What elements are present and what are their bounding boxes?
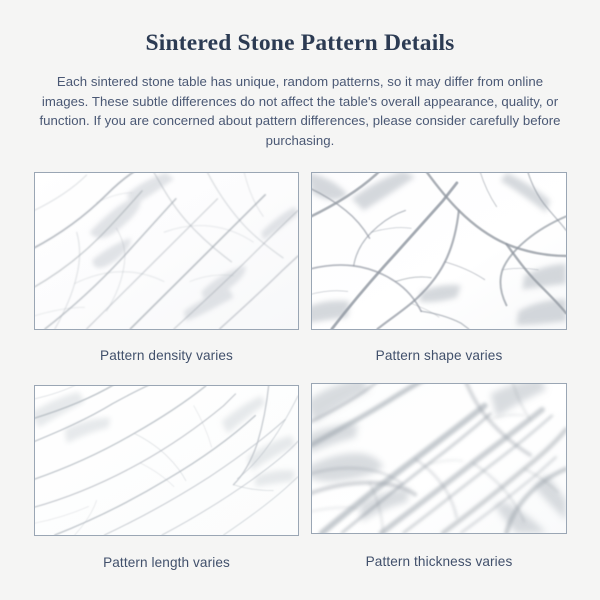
gallery-caption-density: Pattern density varies: [34, 348, 299, 363]
marble-swatch-thickness: [311, 383, 567, 534]
marble-swatch-density: [34, 172, 299, 330]
gallery-caption-length: Pattern length varies: [34, 555, 299, 570]
page-title: Sintered Stone Pattern Details: [0, 30, 600, 57]
pattern-details-page: Sintered Stone Pattern Details Each sint…: [0, 0, 600, 600]
marble-swatch-shape: [311, 172, 567, 330]
gallery-item-thickness: Pattern thickness varies: [311, 383, 567, 569]
gallery-item-shape: Pattern shape varies: [311, 172, 567, 363]
gallery-caption-shape: Pattern shape varies: [311, 348, 567, 363]
gallery-caption-thickness: Pattern thickness varies: [311, 554, 567, 569]
marble-swatch-length: [34, 385, 299, 536]
gallery-item-density: Pattern density varies: [34, 172, 299, 363]
gallery-item-length: Pattern length varies: [34, 385, 299, 570]
intro-paragraph: Each sintered stone table has unique, ra…: [33, 72, 567, 150]
